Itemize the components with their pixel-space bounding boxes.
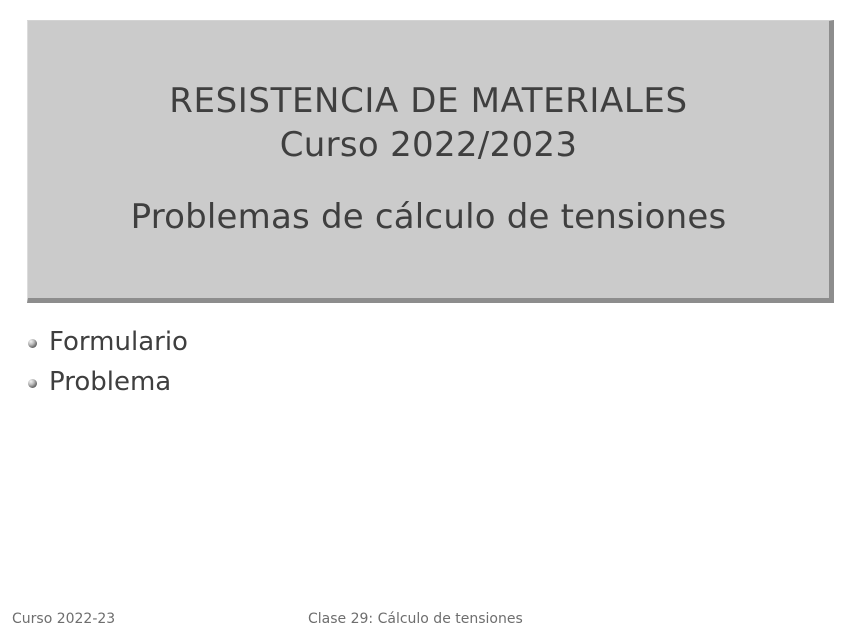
footer-course-label: Curso 2022-23	[12, 608, 115, 630]
list-item[interactable]: Problema	[26, 362, 526, 402]
list-item[interactable]: Formulario	[26, 322, 526, 362]
title-line-academic-year: Curso 2022/2023	[28, 123, 829, 167]
sphere-bullet-icon	[28, 379, 37, 388]
list-item-label: Formulario	[49, 322, 188, 362]
list-item-label: Problema	[49, 362, 171, 402]
sphere-bullet-icon	[28, 339, 37, 348]
content-bullet-list: Formulario Problema	[26, 322, 526, 402]
title-line-course-name: RESISTENCIA DE MATERIALES	[28, 79, 829, 123]
title-text-stack: RESISTENCIA DE MATERIALES Curso 2022/202…	[28, 21, 829, 239]
slide-canvas: RESISTENCIA DE MATERIALES Curso 2022/202…	[0, 0, 848, 635]
title-spacer	[28, 167, 829, 195]
title-block[interactable]: RESISTENCIA DE MATERIALES Curso 2022/202…	[27, 20, 834, 303]
footer-lesson-label: Clase 29: Cálculo de tensiones	[308, 608, 523, 630]
title-line-topic: Problemas de cálculo de tensiones	[28, 195, 829, 239]
slide-footer: Curso 2022-23 Clase 29: Cálculo de tensi…	[0, 608, 848, 635]
